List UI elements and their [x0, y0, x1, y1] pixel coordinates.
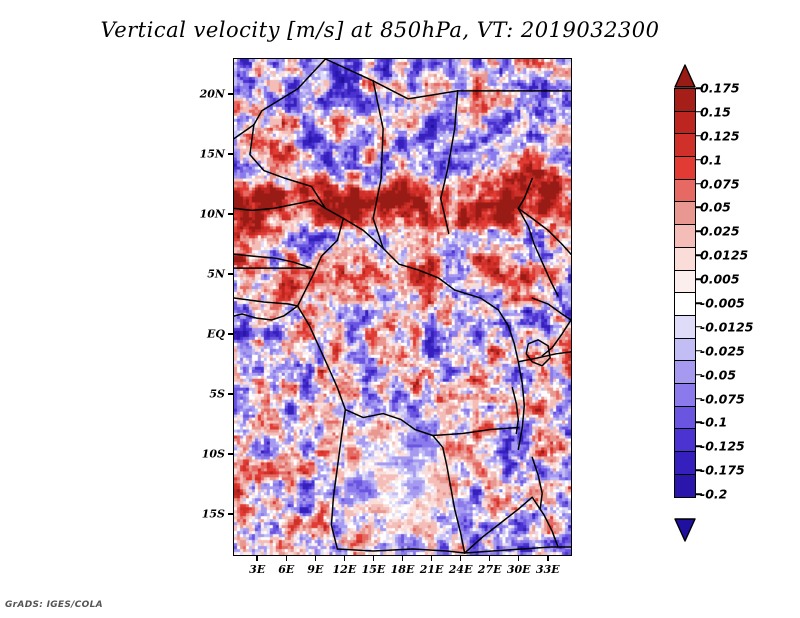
x-axis-tick-mark: [460, 556, 462, 561]
colorbar-tick-mark: [696, 278, 702, 280]
colorbar-tick-label: 0.05: [700, 200, 731, 215]
colorbar: [674, 88, 696, 518]
colorbar-tick-mark: [696, 398, 702, 400]
colorbar-swatch: [674, 360, 696, 384]
colorbar-swatch: [674, 428, 696, 452]
colorbar-swatch: [674, 133, 696, 157]
colorbar-tick-label: -0.125: [700, 439, 745, 454]
colorbar-swatch: [674, 270, 696, 294]
colorbar-tick-label: -0.05: [700, 367, 736, 382]
colorbar-tick-label: -0.2: [700, 487, 727, 502]
colorbar-tick-label: -0.0125: [700, 319, 753, 334]
x-axis-tick-label: 9E: [307, 563, 323, 576]
x-axis-tick-label: 24E: [449, 563, 473, 576]
x-axis-tick-mark: [344, 556, 346, 561]
colorbar-tick-label: -0.075: [700, 391, 745, 406]
y-axis-tick-label: 15S: [185, 508, 225, 521]
colorbar-tick-mark: [696, 374, 702, 376]
colorbar-swatch: [674, 292, 696, 316]
x-axis-tick-mark: [489, 556, 491, 561]
colorbar-tick-label: 0.125: [700, 128, 740, 143]
y-axis-tick-mark: [228, 513, 233, 515]
y-axis-tick-label: 10N: [185, 208, 225, 221]
colorbar-top-arrow-icon: [674, 64, 696, 88]
y-axis-tick-label: 5N: [185, 268, 225, 281]
x-axis-tick-mark: [402, 556, 404, 561]
y-axis-tick-label: 10S: [185, 448, 225, 461]
country-borders-overlay: [234, 59, 571, 555]
y-axis-tick-label: 5S: [185, 388, 225, 401]
y-axis-tick-mark: [228, 153, 233, 155]
colorbar-tick-label: -0.005: [700, 296, 745, 311]
colorbar-tick-label: 0.175: [700, 81, 740, 96]
x-axis-tick-mark: [315, 556, 317, 561]
x-axis-tick-label: 15E: [362, 563, 386, 576]
colorbar-swatch: [674, 111, 696, 135]
map-plot-area: [233, 58, 572, 556]
y-axis-tick-mark: [228, 93, 233, 95]
colorbar-tick-mark: [696, 135, 702, 137]
x-axis-tick-mark: [547, 556, 549, 561]
colorbar-tick-mark: [696, 183, 702, 185]
colorbar-swatch: [674, 179, 696, 203]
colorbar-bottom-arrow-icon: [674, 518, 696, 542]
y-axis-tick-mark: [228, 393, 233, 395]
colorbar-tick-mark: [696, 111, 702, 113]
colorbar-tick-mark: [696, 422, 702, 424]
colorbar-swatch: [674, 201, 696, 225]
x-axis-tick-mark: [431, 556, 433, 561]
x-axis-tick-label: 12E: [333, 563, 357, 576]
colorbar-tick-mark: [696, 446, 702, 448]
colorbar-tick-mark: [696, 493, 702, 495]
colorbar-tick-label: 0.1: [700, 152, 722, 167]
colorbar-tick-label: 0.0125: [700, 248, 748, 263]
colorbar-tick-mark: [696, 159, 702, 161]
colorbar-swatch: [674, 88, 696, 112]
colorbar-tick-label: -0.1: [700, 415, 727, 430]
x-axis-tick-label: 33E: [536, 563, 560, 576]
y-axis-tick-label: EQ: [185, 328, 225, 341]
y-axis-tick-mark: [228, 453, 233, 455]
x-axis-tick-label: 18E: [391, 563, 415, 576]
x-axis-tick-label: 6E: [278, 563, 294, 576]
colorbar-tick-label: 0.075: [700, 176, 740, 191]
colorbar-tick-mark: [696, 207, 702, 209]
colorbar-tick-label: 0.15: [700, 104, 731, 119]
colorbar-swatch: [674, 247, 696, 271]
colorbar-tick-mark: [696, 87, 702, 89]
colorbar-tick-label: 0.005: [700, 272, 740, 287]
footer-credit: GrADS: IGES/COLA: [5, 600, 103, 610]
page-title: Vertical velocity [m/s] at 850hPa, VT: 2…: [0, 18, 760, 42]
colorbar-swatch: [674, 224, 696, 248]
colorbar-swatch: [674, 156, 696, 180]
colorbar-tick-label: 0.025: [700, 224, 740, 239]
x-axis-tick-label: 3E: [249, 563, 265, 576]
colorbar-tick-mark: [696, 326, 702, 328]
y-axis-tick-label: 20N: [185, 88, 225, 101]
y-axis-tick-label: 15N: [185, 148, 225, 161]
colorbar-swatch: [674, 474, 696, 498]
y-axis-tick-mark: [228, 213, 233, 215]
x-axis-tick-mark: [373, 556, 375, 561]
x-axis-tick-label: 21E: [420, 563, 444, 576]
colorbar-tick-label: -0.175: [700, 463, 745, 478]
x-axis-tick-label: 27E: [478, 563, 502, 576]
colorbar-tick-mark: [696, 231, 702, 233]
colorbar-tick-mark: [696, 302, 702, 304]
colorbar-swatch: [674, 383, 696, 407]
colorbar-tick-label: -0.025: [700, 343, 745, 358]
x-axis-tick-label: 30E: [507, 563, 531, 576]
colorbar-swatch: [674, 406, 696, 430]
x-axis-tick-mark: [518, 556, 520, 561]
colorbar-swatch: [674, 451, 696, 475]
x-axis-tick-mark: [256, 556, 258, 561]
y-axis-tick-mark: [228, 273, 233, 275]
y-axis-tick-mark: [228, 333, 233, 335]
colorbar-swatch: [674, 338, 696, 362]
colorbar-tick-mark: [696, 254, 702, 256]
colorbar-tick-mark: [696, 469, 702, 471]
colorbar-swatch: [674, 315, 696, 339]
colorbar-tick-mark: [696, 350, 702, 352]
x-axis-tick-mark: [286, 556, 288, 561]
